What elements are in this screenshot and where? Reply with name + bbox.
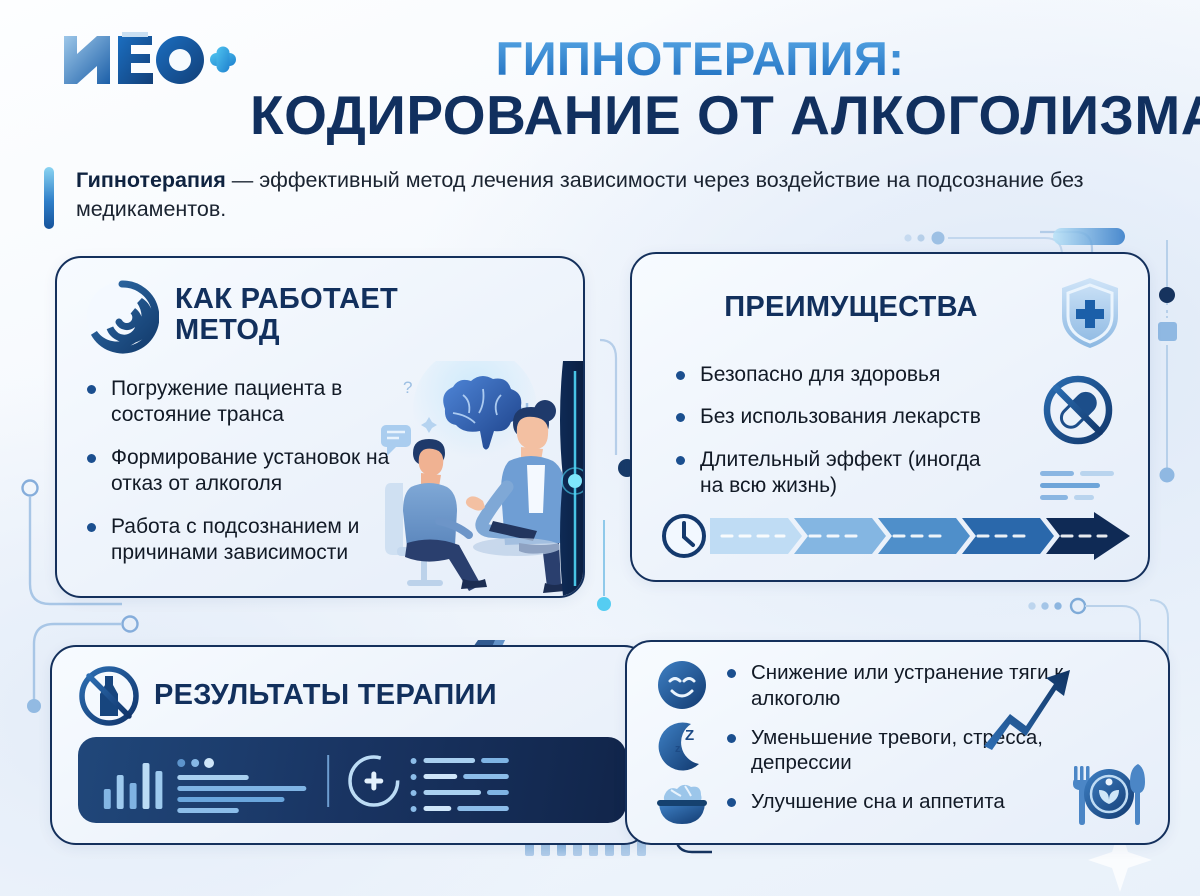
card-outcomes: Z z Снижение или устранение тяги к алког… bbox=[625, 640, 1170, 845]
circle-plus-icon bbox=[350, 757, 398, 805]
no-alcohol-icon bbox=[78, 665, 140, 727]
subtitle-accent-bar bbox=[44, 167, 54, 229]
food-bowl-icon bbox=[655, 778, 709, 832]
results-title: РЕЗУЛЬТАТЫ ТЕРАПИИ bbox=[154, 680, 497, 711]
shield-plus-icon bbox=[1058, 276, 1122, 350]
brand-logo[interactable]: NEO+ bbox=[62, 32, 237, 88]
list-item: Безопасно для здоровья bbox=[674, 362, 1004, 388]
no-pills-icon bbox=[1042, 374, 1114, 446]
clock-icon bbox=[664, 516, 704, 556]
svg-text:Z: Z bbox=[685, 727, 694, 744]
growth-arrow-icon bbox=[980, 664, 1072, 752]
card-how-method-works: КАК РАБОТАЕТ МЕТОД Погружение пациента в… bbox=[55, 256, 585, 598]
calm-face-icon bbox=[655, 658, 709, 712]
benefits-bullet-list: Безопасно для здоровья Без использования… bbox=[674, 362, 1004, 516]
list-item: Улучшение сна и аппетита bbox=[725, 789, 1075, 815]
method-title: КАК РАБОТАЕТ МЕТОД bbox=[175, 280, 465, 347]
infographic-root: NEO+ ГИПНОТЕРАПИЯ: КОДИРОВАНИЕ ОТ АЛКОГО… bbox=[0, 0, 1200, 896]
title-line-1: ГИПНОТЕРАПИЯ: bbox=[250, 34, 1150, 83]
subtitle: Гипнотерапия — эффективный метод лечения… bbox=[76, 166, 1096, 224]
title-line-2: КОДИРОВАНИЕ ОТ АЛКОГОЛИЗМА bbox=[250, 85, 1150, 147]
card-benefits: ПРЕИМУЩЕСТВА Безопасно для здоровья Без … bbox=[630, 252, 1150, 582]
list-item: Длительный эффект (иногда на всю жизнь) bbox=[674, 447, 1004, 500]
svg-text:?: ? bbox=[403, 378, 412, 397]
results-header: РЕЗУЛЬТАТЫ ТЕРАПИИ bbox=[78, 665, 497, 727]
spiral-icon bbox=[85, 280, 159, 354]
duration-timeline bbox=[660, 512, 1130, 560]
card-therapy-results: РЕЗУЛЬТАТЫ ТЕРАПИИ bbox=[50, 645, 650, 845]
panel-text-lines bbox=[177, 758, 306, 813]
results-dashboard-panel bbox=[78, 737, 626, 823]
subtitle-lead: Гипнотерапия bbox=[76, 168, 226, 192]
page-title: ГИПНОТЕРАПИЯ: КОДИРОВАНИЕ ОТ АЛКОГОЛИЗМА bbox=[250, 34, 1150, 147]
text-lines-icon bbox=[1040, 470, 1114, 502]
subtitle-rest: — эффективный метод лечения зависимости … bbox=[76, 168, 1083, 221]
panel-list-rows bbox=[411, 758, 509, 812]
therapy-session-illustration: ? bbox=[367, 361, 585, 596]
method-header: КАК РАБОТАЕТ МЕТОД bbox=[85, 280, 465, 354]
svg-text:z: z bbox=[675, 743, 681, 755]
healthy-meal-icon bbox=[1070, 760, 1148, 826]
list-item: Без использования лекарств bbox=[674, 404, 1004, 430]
moon-sleep-icon: Z z bbox=[655, 718, 709, 772]
brand-logo-text: NEO+ bbox=[237, 32, 238, 33]
mini-bar-chart bbox=[104, 763, 163, 809]
